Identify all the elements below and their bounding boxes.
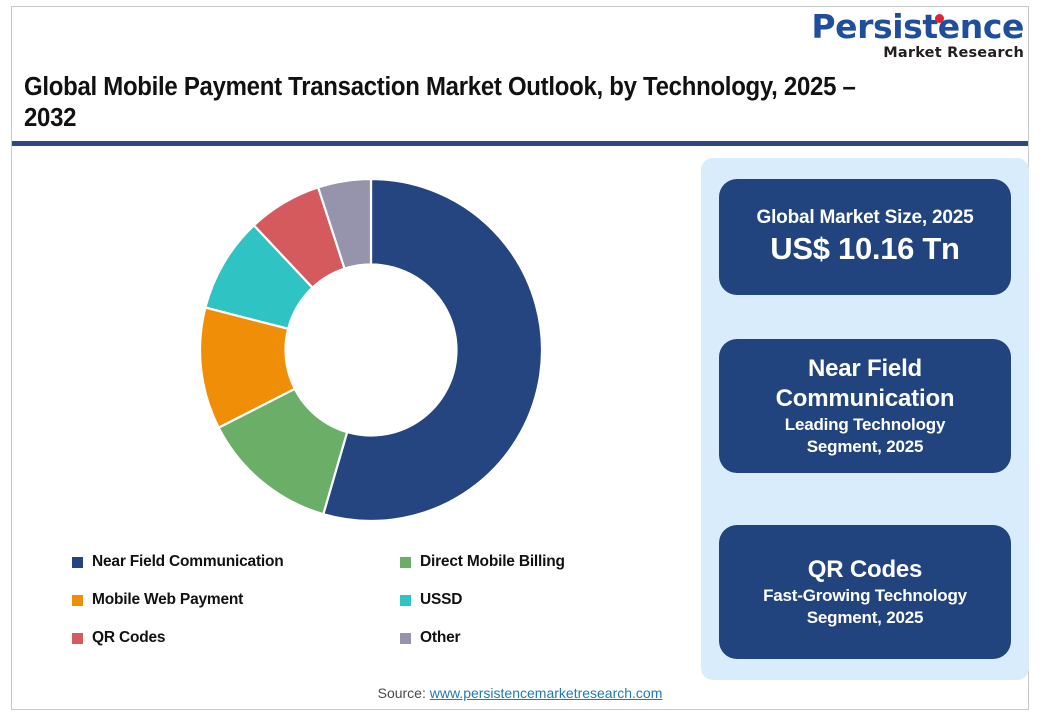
brand-name: Persistence xyxy=(752,10,1024,44)
chart-area xyxy=(12,152,688,552)
card-global-market-size: Global Market Size, 2025 US$ 10.16 Tn xyxy=(719,179,1011,295)
card-sub-line1: Fast-Growing Technology xyxy=(753,585,977,607)
legend-item-other: Other xyxy=(400,629,672,647)
title-divider xyxy=(12,141,1028,146)
legend-swatch-icon xyxy=(400,633,411,644)
source-line: Source: www.persistencemarketresearch.co… xyxy=(0,685,1040,701)
legend-label: USSD xyxy=(420,591,462,609)
donut-chart xyxy=(199,178,543,522)
legend-label: Other xyxy=(420,629,460,647)
donut-svg xyxy=(199,178,543,522)
legend-label: Near Field Communication xyxy=(92,553,284,571)
chart-legend: Near Field Communication Direct Mobile B… xyxy=(72,543,672,648)
brand-logo: Persistence Market Research xyxy=(752,10,1024,66)
legend-swatch-icon xyxy=(72,595,83,606)
legend-item-direct-mobile-billing: Direct Mobile Billing xyxy=(400,553,672,571)
card-sub-line1: Leading Technology xyxy=(775,414,955,436)
card-sub-line2: Segment, 2025 xyxy=(797,607,933,629)
card-head: QR Codes xyxy=(794,555,936,585)
brand-dot-icon xyxy=(935,14,944,23)
card-value: US$ 10.16 Tn xyxy=(770,230,959,268)
legend-item-mobile-web-payment: Mobile Web Payment xyxy=(72,591,400,609)
card-head: Near Field Communication xyxy=(719,354,1011,414)
legend-label: QR Codes xyxy=(92,629,165,647)
legend-label: Mobile Web Payment xyxy=(92,591,243,609)
highlights-panel: Global Market Size, 2025 US$ 10.16 Tn Ne… xyxy=(701,158,1029,680)
card-kicker: Global Market Size, 2025 xyxy=(757,206,974,230)
legend-swatch-icon xyxy=(72,557,83,568)
infographic-page: Persistence Market Research Global Mobil… xyxy=(0,0,1040,720)
legend-item-qr-codes: QR Codes xyxy=(72,629,400,647)
card-fast-growing-segment: QR Codes Fast-Growing Technology Segment… xyxy=(719,525,1011,659)
card-sub-line2: Segment, 2025 xyxy=(797,436,933,458)
legend-swatch-icon xyxy=(72,633,83,644)
legend-swatch-icon xyxy=(400,595,411,606)
card-leading-segment: Near Field Communication Leading Technol… xyxy=(719,339,1011,473)
legend-item-ussd: USSD xyxy=(400,591,672,609)
legend-swatch-icon xyxy=(400,557,411,568)
page-title: Global Mobile Payment Transaction Market… xyxy=(24,72,898,134)
legend-item-near-field-communication: Near Field Communication xyxy=(72,553,400,571)
source-link[interactable]: www.persistencemarketresearch.com xyxy=(430,685,663,701)
brand-tagline: Market Research xyxy=(752,45,1024,62)
source-label: Source: xyxy=(378,685,430,701)
legend-label: Direct Mobile Billing xyxy=(420,553,565,571)
